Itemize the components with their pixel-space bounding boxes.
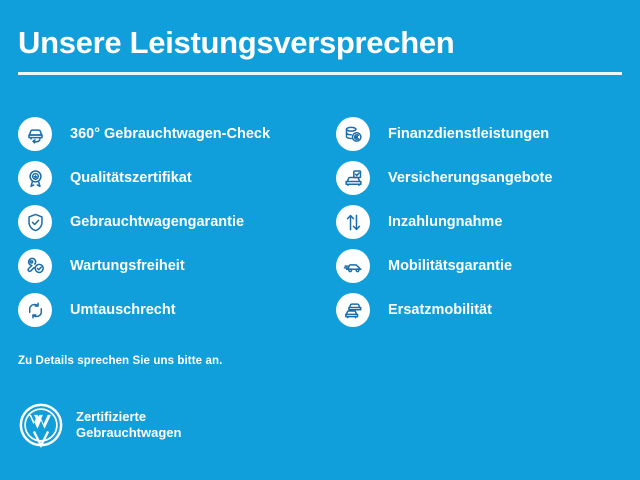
benefit-label: Inzahlungnahme	[388, 213, 502, 231]
exchange-arrows-icon	[18, 293, 52, 327]
details-note: Zu Details sprechen Sie uns bitte an.	[18, 355, 222, 367]
benefit-label: Versicherungsangebote	[388, 169, 552, 187]
volkswagen-logo	[18, 402, 64, 448]
wrench-check-icon	[18, 249, 52, 283]
benefits-column-right: Finanzdienstleistungen Versicherungsange…	[320, 112, 640, 332]
car-document-check-icon	[336, 161, 370, 195]
benefit-item-360-check: 360° Gebrauchtwagen-Check	[18, 112, 320, 156]
arrows-up-down-icon	[336, 205, 370, 239]
benefit-item-quality-certificate: Qualitätszertifikat	[18, 156, 320, 200]
car-360-check-icon	[18, 117, 52, 151]
car-motion-icon	[336, 249, 370, 283]
brand-line-1: Zertifizierte	[76, 409, 181, 425]
benefit-label: Finanzdienstleistungen	[388, 125, 549, 143]
coins-euro-icon	[336, 117, 370, 151]
benefit-item-maintenance-free: Wartungsfreiheit	[18, 244, 320, 288]
benefit-item-financial-services: Finanzdienstleistungen	[336, 112, 640, 156]
benefit-item-exchange-right: Umtauschrecht	[18, 288, 320, 332]
benefit-item-mobility-guarantee: Mobilitätsgarantie	[336, 244, 640, 288]
brand-lockup: Zertifizierte Gebrauchtwagen	[18, 402, 181, 448]
benefit-item-warranty: Gebrauchtwagengarantie	[18, 200, 320, 244]
benefit-label: Umtauschrecht	[70, 301, 176, 319]
benefit-item-replacement-mobility: Ersatzmobilität	[336, 288, 640, 332]
brand-line-2: Gebrauchtwagen	[76, 425, 181, 441]
brand-text: Zertifizierte Gebrauchtwagen	[76, 409, 181, 441]
benefit-label: Mobilitätsgarantie	[388, 257, 512, 275]
benefit-label: Qualitätszertifikat	[70, 169, 192, 187]
two-cars-icon	[336, 293, 370, 327]
promo-poster: Unsere Leistungsversprechen 360° Gebrauc…	[0, 0, 640, 480]
shield-check-icon	[18, 205, 52, 239]
title-divider	[18, 72, 622, 75]
benefit-item-trade-in: Inzahlungnahme	[336, 200, 640, 244]
benefits-grid: 360° Gebrauchtwagen-Check Qualitätszerti…	[0, 112, 640, 332]
award-rosette-icon	[18, 161, 52, 195]
benefits-column-left: 360° Gebrauchtwagen-Check Qualitätszerti…	[0, 112, 320, 332]
page-title: Unsere Leistungsversprechen	[18, 24, 622, 62]
header: Unsere Leistungsversprechen	[18, 24, 622, 62]
benefit-label: Ersatzmobilität	[388, 301, 492, 319]
benefit-item-insurance-offers: Versicherungsangebote	[336, 156, 640, 200]
benefit-label: Gebrauchtwagengarantie	[70, 213, 244, 231]
benefit-label: Wartungsfreiheit	[70, 257, 185, 275]
benefit-label: 360° Gebrauchtwagen-Check	[70, 125, 270, 143]
